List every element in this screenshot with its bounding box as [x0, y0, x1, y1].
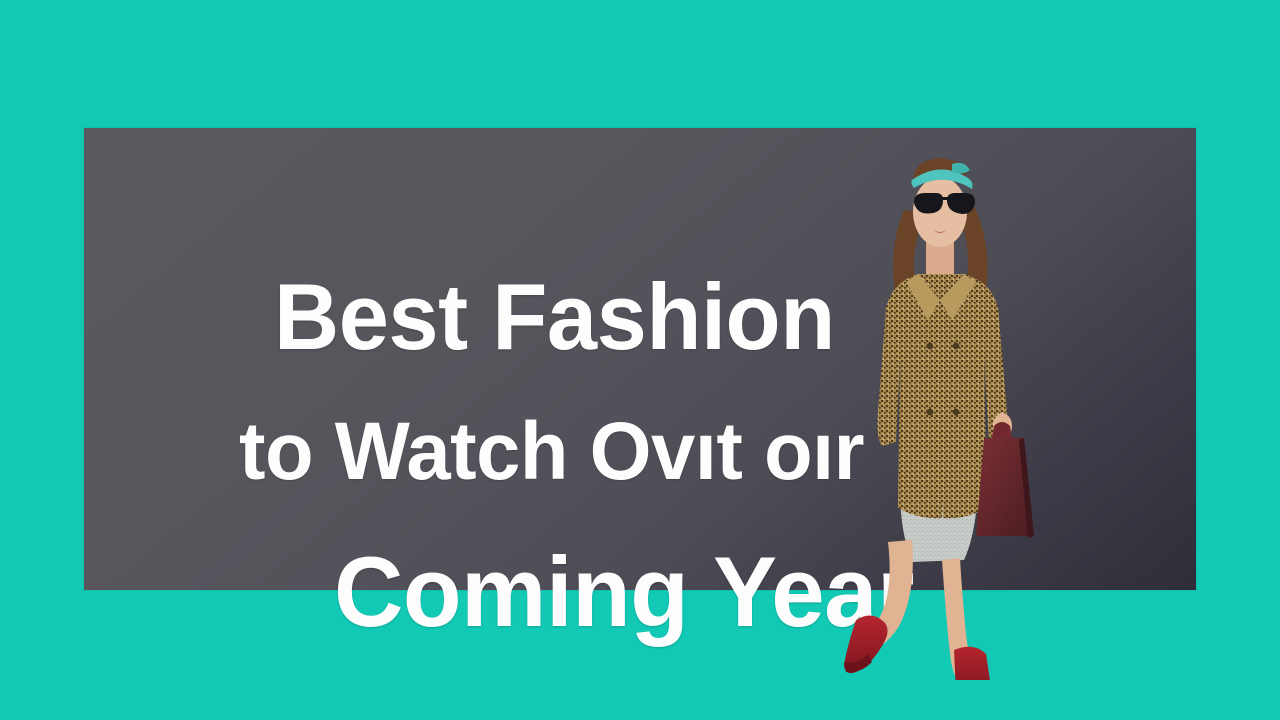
model-photo — [826, 150, 1096, 680]
banner-canvas: Best Fashion to Watch Ovıt oır Coming Ye… — [0, 0, 1280, 720]
handbag — [976, 422, 1034, 538]
headline-line-1: Best Fashion — [274, 270, 835, 364]
boot-front — [954, 647, 992, 680]
headline-line-2: to Watch Ovıt oır — [239, 411, 864, 493]
